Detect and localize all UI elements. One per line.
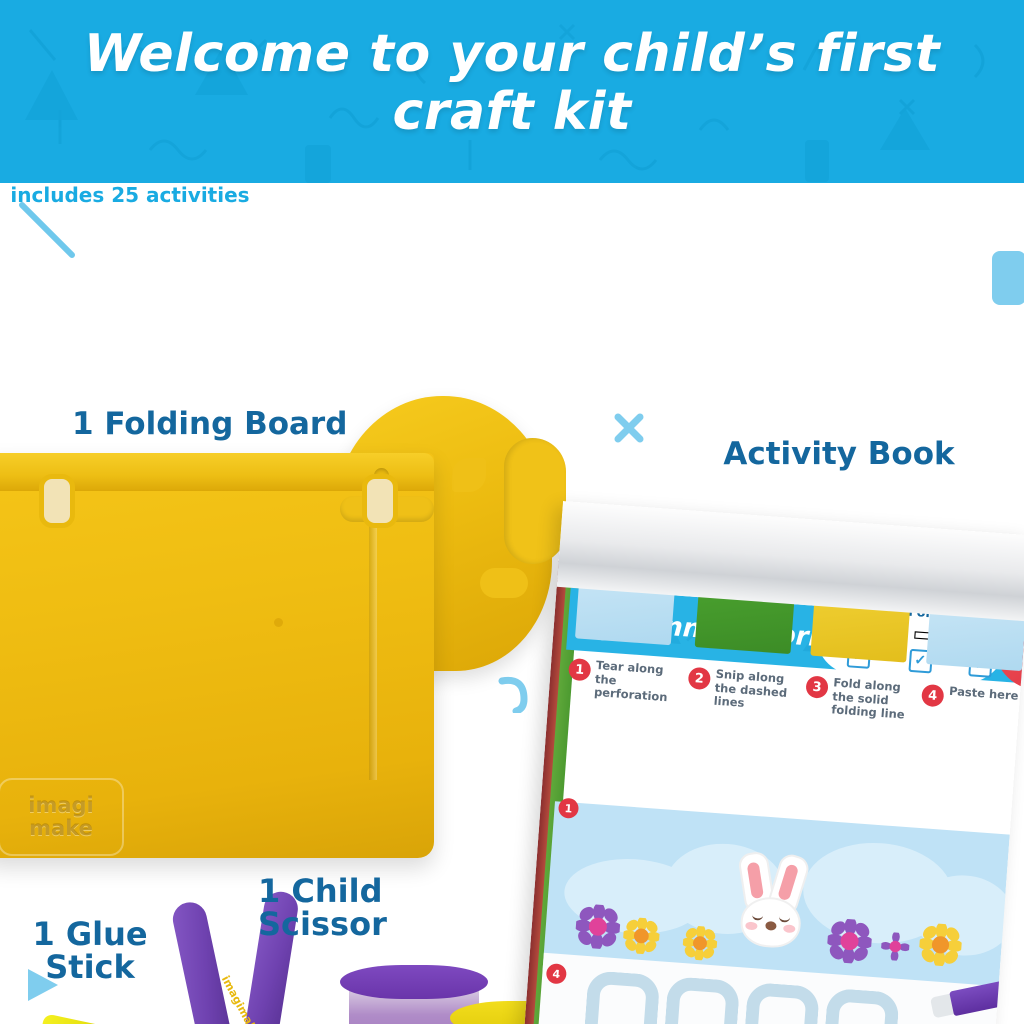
bunny-ear-inner: [777, 863, 799, 901]
step-text: Snip along the dashed lines: [713, 668, 802, 715]
activity-book: 1 4 1 3 9 Bunny Surprise: [511, 501, 1024, 1024]
bunny-eye-right: [779, 914, 791, 923]
decor-bar-right: [988, 245, 1024, 311]
board-hinge-left: [39, 474, 75, 528]
flower: [682, 925, 718, 961]
board-hinge-right: [362, 474, 398, 528]
label-scissor-line-2: Scissor: [258, 908, 418, 941]
elephant-ear: [504, 438, 566, 564]
elephant-foot: [480, 568, 528, 598]
bunny-cheek-left: [745, 922, 758, 931]
board-pin-dot: [274, 618, 283, 627]
flower: [918, 922, 963, 967]
header-banner: Welcome to your child’s first craft kit: [0, 0, 1024, 183]
product-stage: imagi make imagimake: [0, 183, 1024, 1024]
squiggle-path: [583, 970, 660, 1024]
product-infographic: Welcome to your child’s first craft kit: [0, 0, 1024, 1024]
step-text: Tear along the perforation: [594, 659, 683, 706]
glue-stick-cap: [34, 1013, 110, 1024]
flower: [574, 903, 621, 950]
scissor-blade-left: [170, 899, 237, 1024]
flower: [826, 918, 873, 965]
logo-line-1: imagi: [28, 794, 93, 817]
elephant-tuft: [452, 458, 486, 492]
imagimake-logo: imagi make: [0, 778, 124, 856]
bunny-nose: [765, 921, 777, 931]
label-folding-board: 1 Folding Board: [72, 408, 347, 440]
tub-lid: [340, 965, 488, 999]
label-scissor-line-1: 1 Child: [258, 875, 418, 908]
step-text: Fold along the solid folding line: [831, 676, 920, 723]
decor-x-icon: [612, 411, 646, 445]
title-line-2: craft kit: [0, 86, 1024, 138]
decor-line-topleft: [14, 197, 84, 267]
folding-board: imagi make: [0, 378, 602, 888]
label-glue-line-2: Stick: [30, 951, 150, 984]
flower: [622, 917, 661, 956]
flower: [880, 932, 910, 962]
bunny-eye-left: [752, 912, 764, 921]
bunny-ear-inner: [747, 862, 764, 899]
board-fold-crease: [369, 490, 377, 780]
logo-line-2: make: [29, 817, 93, 840]
label-child-scissor: 1 Child Scissor: [258, 875, 418, 942]
bunny-cheek-right: [783, 924, 796, 933]
label-glue-line-1: 1 Glue: [30, 918, 150, 951]
title-line-1: Welcome to your child’s first: [0, 28, 1024, 80]
label-glue-stick: 1 Glue Stick: [30, 918, 150, 985]
bunny-illustration: [727, 850, 812, 947]
label-activity-book: Activity Book: [716, 438, 962, 470]
glue-stick-product: [0, 1008, 141, 1024]
squiggle-path: [663, 976, 740, 1024]
page-title: Welcome to your child’s first craft kit: [0, 28, 1024, 138]
